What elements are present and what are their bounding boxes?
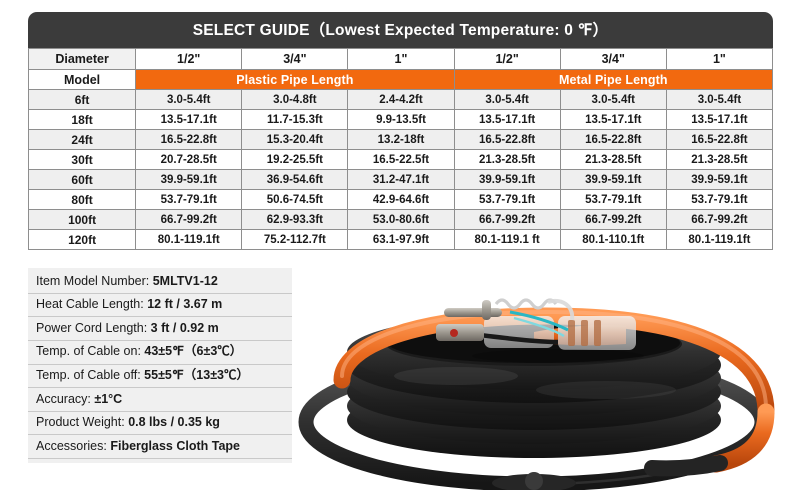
cell: 75.2-112.7ft bbox=[242, 230, 348, 250]
spec-row-heat-cable-length: Heat Cable Length: 12 ft / 3.67 m bbox=[28, 294, 292, 318]
spec-value: ±1°C bbox=[94, 392, 122, 406]
cell: 66.7-99.2ft bbox=[560, 210, 666, 230]
header-cell-model: Model bbox=[29, 70, 136, 90]
spec-row-accuracy: Accuracy: ±1°C bbox=[28, 388, 292, 412]
spec-row-accessories: Accessories: Fiberglass Cloth Tape bbox=[28, 435, 292, 459]
cell: 42.9-64.6ft bbox=[348, 190, 454, 210]
spec-value: 0.8 lbs / 0.35 kg bbox=[128, 415, 220, 429]
spec-value: 3 ft / 0.92 m bbox=[151, 321, 219, 335]
table-header-row-model: Model Plastic Pipe Length Metal Pipe Len… bbox=[29, 70, 773, 90]
cell: 21.3-28.5ft bbox=[666, 150, 772, 170]
cell: 16.5-22.8ft bbox=[454, 130, 560, 150]
cell: 80.1-110.1ft bbox=[560, 230, 666, 250]
cell: 20.7-28.5ft bbox=[136, 150, 242, 170]
cell: 16.5-22.8ft bbox=[136, 130, 242, 150]
cell: 11.7-15.3ft bbox=[242, 110, 348, 130]
table-row: 30ft 20.7-28.5ft 19.2-25.5ft 16.5-22.5ft… bbox=[29, 150, 773, 170]
cell: 80.1-119.1ft bbox=[136, 230, 242, 250]
cell: 2.4-4.2ft bbox=[348, 90, 454, 110]
spec-label: Item Model Number: bbox=[36, 274, 149, 288]
cell: 62.9-93.3ft bbox=[242, 210, 348, 230]
cell: 39.9-59.1ft bbox=[666, 170, 772, 190]
spec-value: 43±5℉（6±3℃） bbox=[144, 344, 242, 358]
table-row: 100ft 66.7-99.2ft 62.9-93.3ft 53.0-80.6f… bbox=[29, 210, 773, 230]
cell: 39.9-59.1ft bbox=[136, 170, 242, 190]
table-header-row-diameter: Diameter 1/2" 3/4" 1" 1/2" 3/4" 1" bbox=[29, 49, 773, 70]
cell: 3.0-5.4ft bbox=[666, 90, 772, 110]
spec-value: Fiberglass Cloth Tape bbox=[110, 439, 240, 453]
cell: 3.0-5.4ft bbox=[136, 90, 242, 110]
table-row: 60ft 39.9-59.1ft 36.9-54.6ft 31.2-47.1ft… bbox=[29, 170, 773, 190]
spec-label: Temp. of Cable off: bbox=[36, 368, 141, 382]
cell: 53.0-80.6ft bbox=[348, 210, 454, 230]
table-row: 120ft 80.1-119.1ft 75.2-112.7ft 63.1-97.… bbox=[29, 230, 773, 250]
row-label: 60ft bbox=[29, 170, 136, 190]
header-cell-diameter-3: 1" bbox=[348, 49, 454, 70]
header-cell-diameter: Diameter bbox=[29, 49, 136, 70]
spec-row-power-cord-length: Power Cord Length: 3 ft / 0.92 m bbox=[28, 317, 292, 341]
cell: 63.1-97.9ft bbox=[348, 230, 454, 250]
table-row: 24ft 16.5-22.8ft 15.3-20.4ft 13.2-18ft 1… bbox=[29, 130, 773, 150]
cell: 16.5-22.8ft bbox=[560, 130, 666, 150]
cell: 15.3-20.4ft bbox=[242, 130, 348, 150]
header-cell-diameter-5: 3/4" bbox=[560, 49, 666, 70]
spec-value: 55±5℉（13±3℃） bbox=[144, 368, 249, 382]
cell: 53.7-79.1ft bbox=[454, 190, 560, 210]
row-label: 80ft bbox=[29, 190, 136, 210]
table-row: 6ft 3.0-5.4ft 3.0-4.8ft 2.4-4.2ft 3.0-5.… bbox=[29, 90, 773, 110]
spec-label: Power Cord Length: bbox=[36, 321, 147, 335]
header-cell-diameter-4: 1/2" bbox=[454, 49, 560, 70]
header-cell-diameter-1: 1/2" bbox=[136, 49, 242, 70]
cell: 31.2-47.1ft bbox=[348, 170, 454, 190]
cell: 66.7-99.2ft bbox=[454, 210, 560, 230]
row-label: 18ft bbox=[29, 110, 136, 130]
header-cell-group-metal: Metal Pipe Length bbox=[454, 70, 772, 90]
spec-label: Temp. of Cable on: bbox=[36, 344, 141, 358]
cell: 39.9-59.1ft bbox=[560, 170, 666, 190]
row-label: 6ft bbox=[29, 90, 136, 110]
cell: 3.0-4.8ft bbox=[242, 90, 348, 110]
cell: 3.0-5.4ft bbox=[454, 90, 560, 110]
cell: 19.2-25.5ft bbox=[242, 150, 348, 170]
table-row: 18ft 13.5-17.1ft 11.7-15.3ft 9.9-13.5ft … bbox=[29, 110, 773, 130]
row-label: 30ft bbox=[29, 150, 136, 170]
cell: 3.0-5.4ft bbox=[560, 90, 666, 110]
cell: 13.5-17.1ft bbox=[560, 110, 666, 130]
table-row: 80ft 53.7-79.1ft 50.6-74.5ft 42.9-64.6ft… bbox=[29, 190, 773, 210]
cell: 13.5-17.1ft bbox=[454, 110, 560, 130]
cell: 36.9-54.6ft bbox=[242, 170, 348, 190]
cell: 9.9-13.5ft bbox=[348, 110, 454, 130]
cell: 16.5-22.8ft bbox=[666, 130, 772, 150]
spec-row-item-model-number: Item Model Number: 5MLTV1-12 bbox=[28, 270, 292, 294]
product-photo bbox=[296, 272, 776, 490]
cell: 53.7-79.1ft bbox=[560, 190, 666, 210]
heat-cable-illustration bbox=[296, 272, 776, 490]
spec-row-temp-cable-off: Temp. of Cable off: 55±5℉（13±3℃） bbox=[28, 365, 292, 389]
cell: 53.7-79.1ft bbox=[136, 190, 242, 210]
cell: 53.7-79.1ft bbox=[666, 190, 772, 210]
spec-label: Accessories: bbox=[36, 439, 107, 453]
spec-row-product-weight: Product Weight: 0.8 lbs / 0.35 kg bbox=[28, 412, 292, 436]
header-cell-diameter-2: 3/4" bbox=[242, 49, 348, 70]
cell: 16.5-22.5ft bbox=[348, 150, 454, 170]
select-guide-table-body: Diameter 1/2" 3/4" 1" 1/2" 3/4" 1" Model… bbox=[29, 49, 773, 250]
row-label: 100ft bbox=[29, 210, 136, 230]
cell: 50.6-74.5ft bbox=[242, 190, 348, 210]
header-cell-diameter-6: 1" bbox=[666, 49, 772, 70]
spec-value: 5MLTV1-12 bbox=[153, 274, 218, 288]
select-guide-table: Diameter 1/2" 3/4" 1" 1/2" 3/4" 1" Model… bbox=[28, 48, 773, 250]
cell: 13.5-17.1ft bbox=[666, 110, 772, 130]
cell: 13.2-18ft bbox=[348, 130, 454, 150]
select-guide-table-container: SELECT GUIDE（Lowest Expected Temperature… bbox=[28, 12, 773, 250]
row-label: 120ft bbox=[29, 230, 136, 250]
row-label: 24ft bbox=[29, 130, 136, 150]
cable-joint bbox=[492, 472, 576, 490]
cell: 21.3-28.5ft bbox=[454, 150, 560, 170]
header-cell-group-plastic: Plastic Pipe Length bbox=[136, 70, 454, 90]
cell: 80.1-119.1 ft bbox=[454, 230, 560, 250]
cell: 21.3-28.5ft bbox=[560, 150, 666, 170]
cell: 80.1-119.1ft bbox=[666, 230, 772, 250]
product-info-page: SELECT GUIDE（Lowest Expected Temperature… bbox=[0, 0, 800, 495]
spec-label: Heat Cable Length: bbox=[36, 297, 144, 311]
spec-row-temp-cable-on: Temp. of Cable on: 43±5℉（6±3℃） bbox=[28, 341, 292, 365]
spec-value: 12 ft / 3.67 m bbox=[147, 297, 222, 311]
select-guide-title: SELECT GUIDE（Lowest Expected Temperature… bbox=[28, 12, 773, 48]
spec-label: Accuracy: bbox=[36, 392, 91, 406]
cell: 39.9-59.1ft bbox=[454, 170, 560, 190]
cell: 66.7-99.2ft bbox=[666, 210, 772, 230]
cell: 13.5-17.1ft bbox=[136, 110, 242, 130]
specifications-panel: Item Model Number: 5MLTV1-12 Heat Cable … bbox=[28, 268, 292, 463]
cell: 66.7-99.2ft bbox=[136, 210, 242, 230]
spec-label: Product Weight: bbox=[36, 415, 125, 429]
